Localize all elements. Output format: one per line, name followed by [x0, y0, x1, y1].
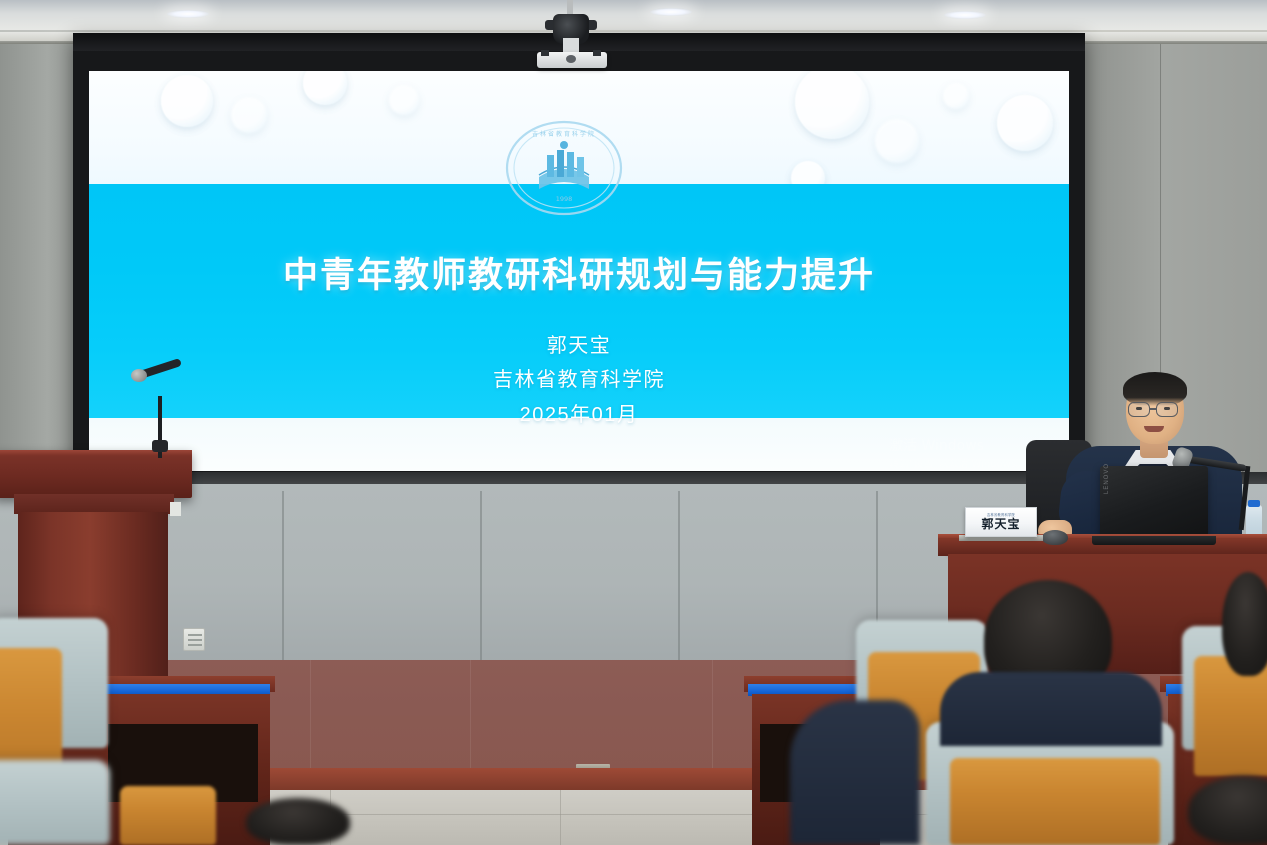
podium-neck	[14, 494, 174, 514]
computer-mouse[interactable]	[1042, 530, 1068, 545]
podium-top	[0, 450, 192, 498]
ceiling-spotlight	[167, 10, 209, 18]
presenter-nameplate: 吉林省教育科学院 郭天宝	[965, 507, 1037, 537]
water-bottle-cap	[1248, 500, 1260, 507]
audience-person-shoulders	[940, 672, 1162, 746]
decorative-circle	[875, 119, 919, 163]
audience-chair-back-wood	[120, 786, 216, 845]
slide-title: 中青年教师教研科研规划与能力提升	[89, 247, 1069, 298]
audience-chair	[0, 760, 110, 845]
glasses-icon	[1156, 402, 1178, 417]
wall-panel-seam	[678, 491, 680, 666]
wall-power-outlet[interactable]	[183, 628, 205, 651]
decorative-circle	[161, 75, 213, 127]
ceiling-seam	[0, 30, 1267, 32]
projector-lens-icon	[566, 55, 576, 63]
ceiling-spotlight	[944, 11, 986, 19]
laptop-screen[interactable]: LENOVO	[1100, 466, 1208, 538]
stage-tile-seam	[712, 660, 713, 782]
podium-microphone-base	[152, 440, 168, 452]
microphone-icon	[131, 369, 147, 382]
glasses-icon	[1128, 402, 1150, 417]
audience-chair-back-wood	[950, 758, 1160, 845]
slide-subtitle-presenter: 郭天宝	[89, 329, 1069, 358]
stage-tile-seam	[470, 660, 471, 782]
svg-text:吉林省教育科学院: 吉林省教育科学院	[532, 130, 596, 138]
projection-screen-frame: 1998 吉林省教育科学院 中青年教师教研科研规划与能力提升 郭天宝 吉林省教育…	[73, 33, 1085, 485]
laptop-base[interactable]	[1092, 536, 1216, 545]
wall-panel-seam	[282, 491, 284, 666]
back-wall-left-column	[0, 44, 78, 514]
lecture-hall-scene: 1998 吉林省教育科学院 中青年教师教研科研规划与能力提升 郭天宝 吉林省教育…	[0, 0, 1267, 845]
svg-text:1998: 1998	[556, 195, 573, 203]
wall-panel-seam	[480, 491, 482, 666]
podium-side-plate	[170, 502, 181, 516]
projection-screen: 1998 吉林省教育科学院 中青年教师教研科研规划与能力提升 郭天宝 吉林省教育…	[89, 71, 1069, 471]
presenter-hair	[1123, 372, 1187, 406]
ceiling-projector	[533, 0, 609, 72]
decorative-circle	[389, 85, 419, 115]
institution-emblem: 1998 吉林省教育科学院	[503, 119, 625, 217]
decorative-circle	[231, 97, 267, 133]
slide-subtitle-date: 2025年01月	[89, 398, 1069, 427]
projector-foot	[541, 50, 549, 56]
floor-tile-line	[560, 790, 561, 845]
decorative-circle	[997, 95, 1053, 151]
decorative-circle	[943, 83, 969, 109]
projector-foot	[593, 50, 601, 56]
audience-person-head	[246, 798, 350, 845]
stage-tile-seam	[310, 660, 311, 782]
slide-subtitle-institution: 吉林省教育科学院	[89, 363, 1069, 392]
nameplate-name-text: 郭天宝	[981, 518, 1020, 530]
laptop-brand-label: LENOVO	[1104, 463, 1110, 494]
presenter-mouth	[1144, 426, 1164, 432]
audience-person-head	[1222, 572, 1267, 676]
ceiling-spotlight	[650, 8, 692, 16]
glasses-bridge	[1150, 408, 1157, 410]
audience-person-shoulders	[790, 700, 920, 845]
